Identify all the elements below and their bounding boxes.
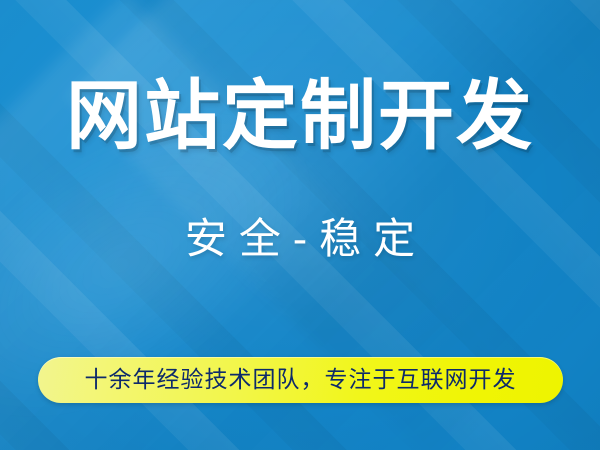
promo-banner: 网站定制开发 安全-稳定 十余年经验技术团队，专注于互联网开发 bbox=[0, 0, 600, 450]
banner-content: 网站定制开发 安全-稳定 十余年经验技术团队，专注于互联网开发 bbox=[0, 0, 600, 450]
highlight-pill-banner: 十余年经验技术团队，专注于互联网开发 bbox=[38, 357, 563, 403]
headline-title: 网站定制开发 bbox=[0, 78, 600, 154]
highlight-pill-text: 十余年经验技术团队，专注于互联网开发 bbox=[85, 369, 517, 392]
subheadline-tagline: 安全-稳定 bbox=[0, 216, 600, 262]
